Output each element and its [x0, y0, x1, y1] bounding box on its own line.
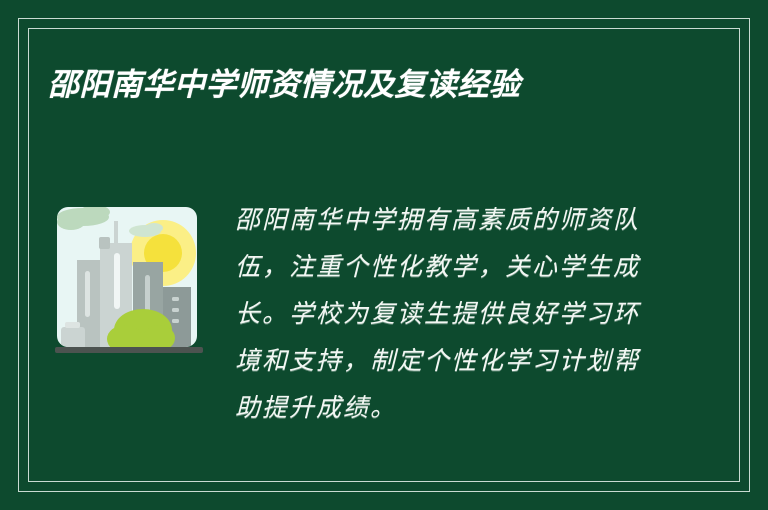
building-antenna-mast	[114, 221, 118, 247]
building-windows-right-dots	[172, 297, 179, 323]
building-low-left-cap	[65, 322, 80, 328]
city-skyline-illustration	[55, 205, 203, 370]
building-antenna-box	[99, 237, 110, 249]
building-low-left	[61, 327, 85, 349]
body-paragraph: 邵阳南华中学拥有高素质的师资队伍，注重个性化教学，关心学生成长。学校为复读生提供…	[235, 196, 655, 431]
building-tall-left-stripe	[85, 271, 90, 317]
content-row: 邵阳南华中学拥有高素质的师资队伍，注重个性化教学，关心学生成长。学校为复读生提供…	[0, 196, 768, 431]
building-antenna-tower-stripe	[114, 253, 120, 309]
ground-bar	[55, 347, 203, 353]
page-title: 邵阳南华中学师资情况及复读经验	[48, 62, 648, 108]
poster-card: 邵阳南华中学师资情况及复读经验	[0, 0, 768, 510]
city-skyline-svg	[55, 205, 203, 365]
